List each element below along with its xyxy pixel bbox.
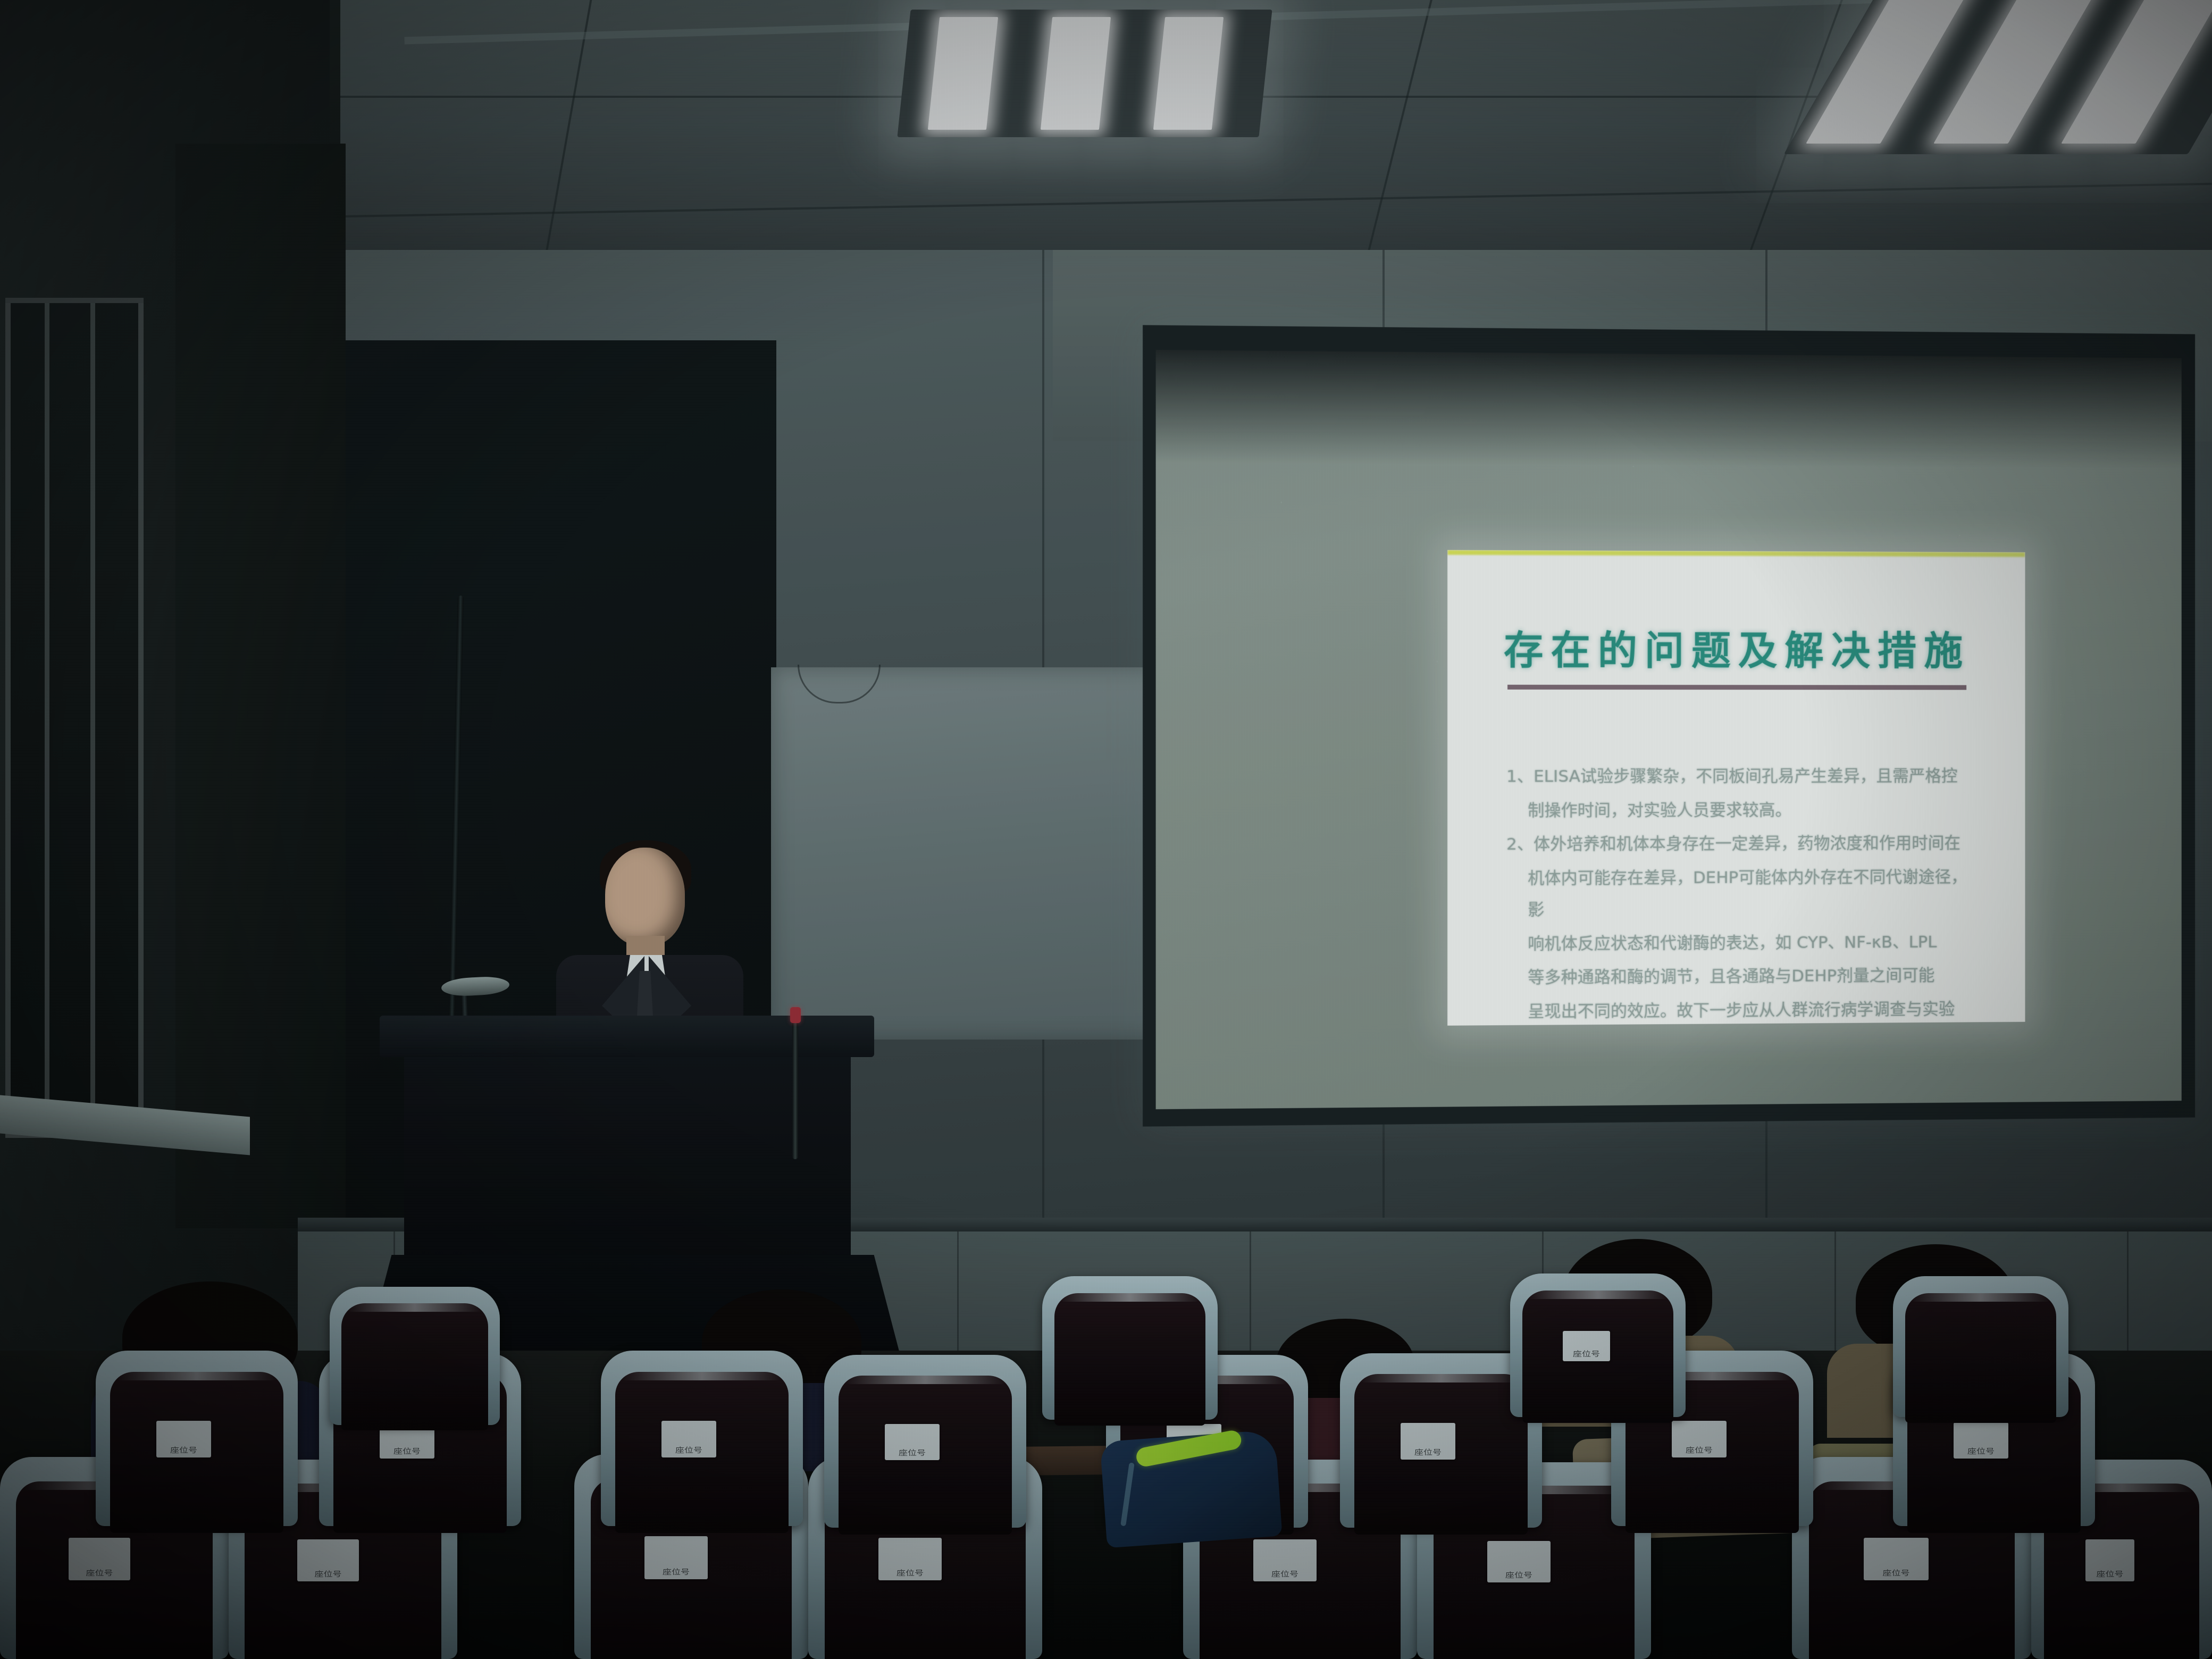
seat-number-plate: 座位号 xyxy=(1864,1538,1929,1580)
ceiling-light-fixture-left xyxy=(897,10,1272,137)
seat-cushion xyxy=(1905,1293,2056,1423)
auditorium-seat[interactable]: 座位号 xyxy=(824,1355,1026,1528)
seat-number-text: 座位号 xyxy=(899,1447,926,1459)
slide-body-line: 1、ELISA试验步骤繁杂，不同板间孔易产生差异，且需严格控 xyxy=(1506,761,1973,793)
seat-highlight xyxy=(347,1303,483,1312)
auditorium-seat[interactable] xyxy=(330,1287,500,1425)
seat-highlight xyxy=(1528,1291,1668,1299)
seat-number-plate: 座位号 xyxy=(1401,1423,1455,1460)
presenter-head xyxy=(605,848,685,946)
seat-number-plate: 座位号 xyxy=(885,1424,940,1460)
slide-body-line: 2、体外培养和机体本身存在一定差异，药物浓度和作用时间在 xyxy=(1506,828,1973,861)
seat-number-plate: 座位号 xyxy=(1954,1422,2008,1459)
seat-number-plate: 座位号 xyxy=(878,1538,942,1580)
seat-number-text: 座位号 xyxy=(1414,1446,1442,1458)
seat-number-text: 座位号 xyxy=(1686,1444,1713,1456)
seat-highlight xyxy=(844,1376,1006,1384)
seat-number-text: 座位号 xyxy=(2097,1568,2124,1580)
seat-number-text: 座位号 xyxy=(315,1568,342,1580)
left-pillar xyxy=(175,144,346,1228)
seat-highlight xyxy=(1060,1293,1200,1302)
seat-number-text: 座位号 xyxy=(663,1566,690,1578)
ceiling-light-fixture-right xyxy=(1784,0,2212,154)
seat-number-plate: 座位号 xyxy=(1563,1331,1610,1361)
seat-number-plate: 座位号 xyxy=(1487,1541,1551,1582)
wall-board-panel xyxy=(771,667,1207,1040)
screen-top-shadow xyxy=(1156,350,2182,468)
auditorium-seat[interactable] xyxy=(1893,1276,2068,1417)
screen-surface: 存在的问题及解决措施 1、ELISA试验步骤繁杂，不同板间孔易产生差异，且需严格… xyxy=(1156,350,2182,1109)
seat-number-text: 座位号 xyxy=(170,1444,197,1456)
fluorescent-tube xyxy=(928,17,998,129)
seat-number-plate: 座位号 xyxy=(2085,1539,2134,1581)
projection-screen: 存在的问题及解决措施 1、ELISA试验步骤繁杂，不同板间孔易产生差异，且需严格… xyxy=(1143,325,2195,1126)
seat-number-plate: 座位号 xyxy=(69,1538,130,1580)
student-backpack xyxy=(1100,1430,1282,1548)
seat-highlight xyxy=(621,1372,783,1380)
auditorium-seat[interactable]: 座位号 xyxy=(1510,1273,1686,1417)
seat-number-text: 座位号 xyxy=(86,1567,113,1579)
laser-pointer-tip xyxy=(790,1007,801,1023)
seat-number-text: 座位号 xyxy=(393,1445,421,1457)
slide-body-line: 机体内可能存在差异，DEHP可能体内外存在不同代谢途径，影 xyxy=(1506,861,1973,926)
seat-number-plate: 座位号 xyxy=(644,1536,708,1579)
auditorium-seat[interactable]: 座位号 xyxy=(601,1351,803,1526)
slide-body-line: 呈现出不同的效应。故下一步应从人群流行病学调查与实验 xyxy=(1506,993,1973,1025)
seat-number-plate: 座位号 xyxy=(661,1421,716,1457)
fluorescent-tube xyxy=(1041,17,1111,129)
seat-number-plate: 座位号 xyxy=(297,1539,359,1581)
seat-cushion xyxy=(341,1303,488,1430)
seat-number-plate: 座位号 xyxy=(156,1421,211,1457)
seat-number-text: 座位号 xyxy=(1573,1348,1600,1360)
fluorescent-tube xyxy=(1153,17,1224,129)
slide-body-line: 响机体反应状态和代谢酶的表达，如 CYP、NF-κB、LPL xyxy=(1506,926,1973,960)
slide-title: 存在的问题及解决措施 xyxy=(1447,618,2025,676)
seat-number-text: 座位号 xyxy=(1505,1569,1532,1581)
seat-number-text: 座位号 xyxy=(1883,1567,1910,1579)
seat-cushion xyxy=(1054,1293,1205,1425)
seat-highlight xyxy=(1360,1374,1522,1382)
lecture-hall-scene: 存在的问题及解决措施 1、ELISA试验步骤繁杂，不同板间孔易产生差异，且需严格… xyxy=(0,0,2212,1659)
seat-number-text: 座位号 xyxy=(1271,1568,1298,1580)
backpack-seam xyxy=(1120,1462,1135,1526)
seat-highlight xyxy=(1911,1293,2051,1302)
auditorium-seat[interactable]: 座位号 xyxy=(96,1351,298,1526)
seat-number-plate: 座位号 xyxy=(1253,1539,1317,1581)
slide-body-text: 1、ELISA试验步骤繁杂，不同板间孔易产生差异，且需严格控 制操作时间，对实验… xyxy=(1506,761,1973,1026)
seat-number-text: 座位号 xyxy=(896,1567,924,1579)
slide-body-line: 等多种通路和酶的调节，且各通路与DEHP剂量之间可能 xyxy=(1506,960,1973,994)
fluorescent-tube xyxy=(1933,0,2097,144)
presentation-slide: 存在的问题及解决措施 1、ELISA试验步骤繁杂，不同板间孔易产生差异，且需严格… xyxy=(1447,550,2025,1025)
seat-number-text: 座位号 xyxy=(1967,1445,1995,1457)
window-frame xyxy=(5,298,144,1138)
slide-body-line: 制操作时间，对实验人员要求较高。 xyxy=(1506,794,1973,827)
seat-number-plate: 座位号 xyxy=(1672,1421,1727,1457)
seat-number-text: 座位号 xyxy=(675,1444,702,1456)
auditorium-seat[interactable] xyxy=(1042,1276,1218,1420)
fluorescent-tube xyxy=(1806,0,1970,144)
fluorescent-tube xyxy=(2061,0,2212,144)
slide-divider-rule xyxy=(1507,685,1966,690)
seat-highlight xyxy=(116,1372,278,1380)
laser-pointer[interactable] xyxy=(792,1016,798,1159)
